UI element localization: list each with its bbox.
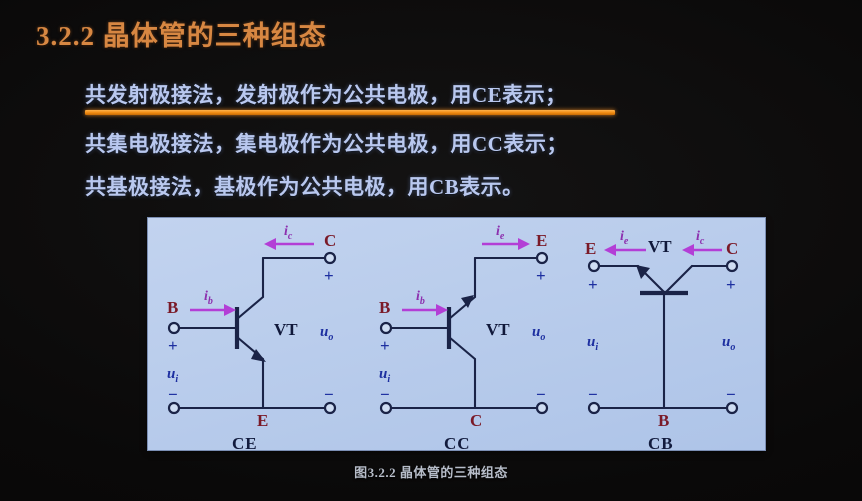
page-title: 3.2.2 晶体管的三种组态: [36, 14, 327, 53]
cb-terminal-in-minus: [589, 403, 599, 413]
ce-output-minus: −: [324, 385, 334, 404]
body-line-2: 共集电极接法，集电极作为公共电极，用CC表示；: [85, 128, 568, 158]
cb-label-vt: VT: [648, 237, 672, 256]
ce-terminal-out-minus: [325, 403, 335, 413]
circuit-common-collector: B E C VT ib ie + ui − + uo − CC: [379, 224, 547, 450]
cc-terminal-in-minus: [381, 403, 391, 413]
ce-collector-slope: [237, 297, 263, 319]
cb-terminal-e: [589, 261, 599, 271]
ce-label-vt: VT: [274, 320, 298, 339]
body-line-1: 共发射极接法，发射极作为公共电极，用CE表示；: [85, 79, 567, 109]
ce-output-plus: +: [324, 266, 334, 285]
cb-label-uo: uo: [722, 334, 735, 353]
cb-terminal-out-minus: [727, 403, 737, 413]
cc-collector-slope: [449, 337, 475, 359]
cb-input-plus: +: [588, 275, 598, 294]
highlight-underline: [85, 110, 615, 115]
cc-label-b: B: [379, 298, 390, 317]
ce-input-minus: −: [168, 385, 178, 404]
cc-output-current-arrow: [482, 238, 530, 250]
cb-label-b: B: [658, 411, 669, 430]
ce-input-plus: +: [168, 336, 178, 355]
ce-label-c: C: [324, 231, 336, 250]
cc-output-plus: +: [536, 266, 546, 285]
circuit-common-emitter: B C E VT ib ic + ui − + uo − CE: [167, 224, 336, 450]
ce-label-uo: uo: [320, 324, 333, 343]
cb-label-ic: ic: [696, 229, 705, 247]
figure-panel: B C E VT ib ic + ui − + uo − CE: [148, 218, 765, 450]
cc-label-ui: ui: [379, 366, 390, 385]
cc-config-label: CC: [444, 434, 471, 450]
cc-output-minus: −: [536, 385, 546, 404]
cb-terminal-c: [727, 261, 737, 271]
ce-label-b: B: [167, 298, 178, 317]
cb-config-label: CB: [648, 434, 674, 450]
cb-label-ie: ie: [620, 229, 629, 247]
cc-label-e: E: [536, 231, 547, 250]
ce-terminal-c: [325, 253, 335, 263]
circuit-common-base: E C B VT ie ic + ui − + uo − CB: [585, 229, 738, 450]
ce-config-label: CE: [232, 434, 258, 450]
ce-terminal-b: [169, 323, 179, 333]
cc-label-vt: VT: [486, 320, 510, 339]
cc-input-plus: +: [380, 336, 390, 355]
figure-caption: 图3.2.2 晶体管的三种组态: [0, 462, 862, 481]
cb-label-e: E: [585, 239, 596, 258]
ce-label-ui: ui: [167, 366, 178, 385]
cc-label-c: C: [470, 411, 482, 430]
cb-output-plus: +: [726, 275, 736, 294]
cc-input-minus: −: [380, 385, 390, 404]
cb-input-minus: −: [588, 385, 598, 404]
cb-collector-slope: [666, 266, 692, 292]
cb-label-c: C: [726, 239, 738, 258]
ce-label-e: E: [257, 411, 268, 430]
cc-input-current-arrow: [402, 304, 448, 316]
ce-label-ib: ib: [204, 289, 213, 307]
cb-output-minus: −: [726, 385, 736, 404]
ce-input-current-arrow: [190, 304, 236, 316]
cc-terminal-b: [381, 323, 391, 333]
cc-label-ie: ie: [496, 224, 505, 242]
slide-content: 3.2.2 晶体管的三种组态 共发射极接法，发射极作为公共电极，用CE表示； 共…: [0, 0, 862, 501]
ce-terminal-in-minus: [169, 403, 179, 413]
cc-label-ib: ib: [416, 289, 425, 307]
cb-label-ui: ui: [587, 334, 598, 353]
cc-terminal-out-minus: [537, 403, 547, 413]
cc-label-uo: uo: [532, 324, 545, 343]
body-line-3: 共基极接法，基极作为公共电极，用CB表示。: [85, 171, 524, 201]
ce-label-ic: ic: [284, 224, 293, 242]
cc-terminal-e: [537, 253, 547, 263]
